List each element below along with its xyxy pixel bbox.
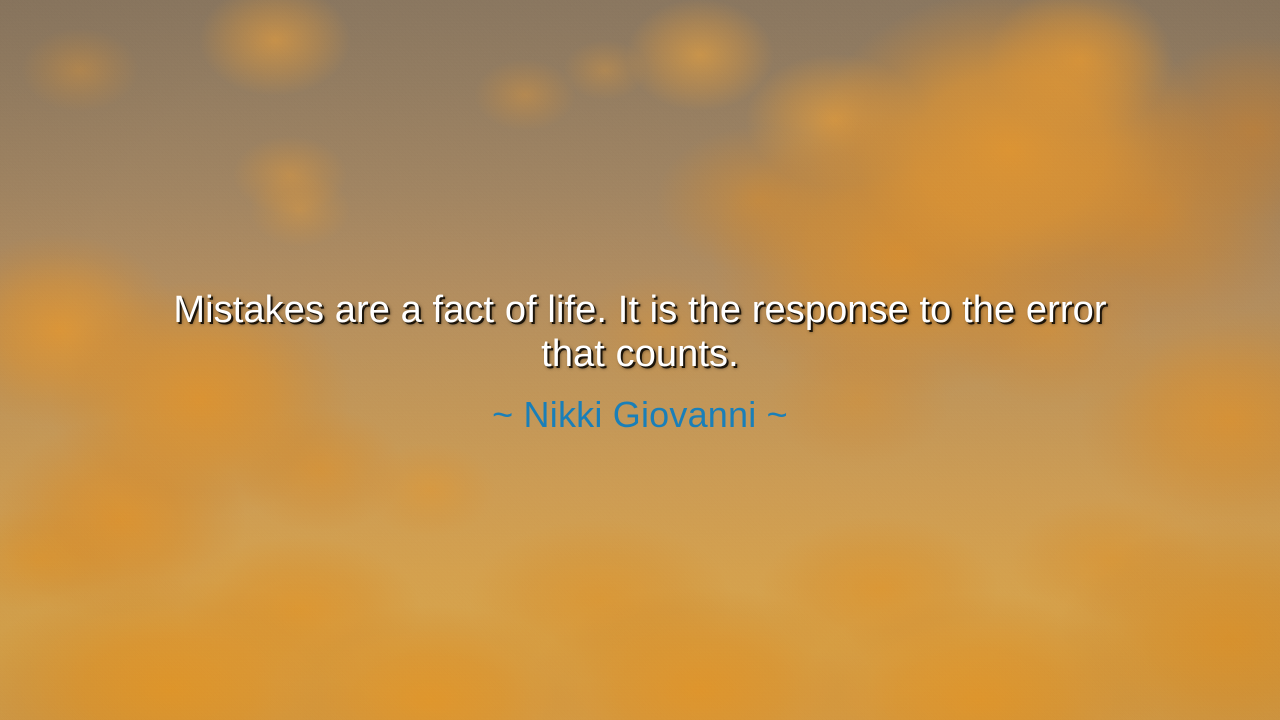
- quote-card: Mistakes are a fact of life. It is the r…: [0, 0, 1280, 720]
- quote-block: Mistakes are a fact of life. It is the r…: [0, 288, 1280, 436]
- quote-attribution: ~ Nikki Giovanni ~: [64, 394, 1216, 436]
- quote-text: Mistakes are a fact of life. It is the r…: [140, 288, 1140, 376]
